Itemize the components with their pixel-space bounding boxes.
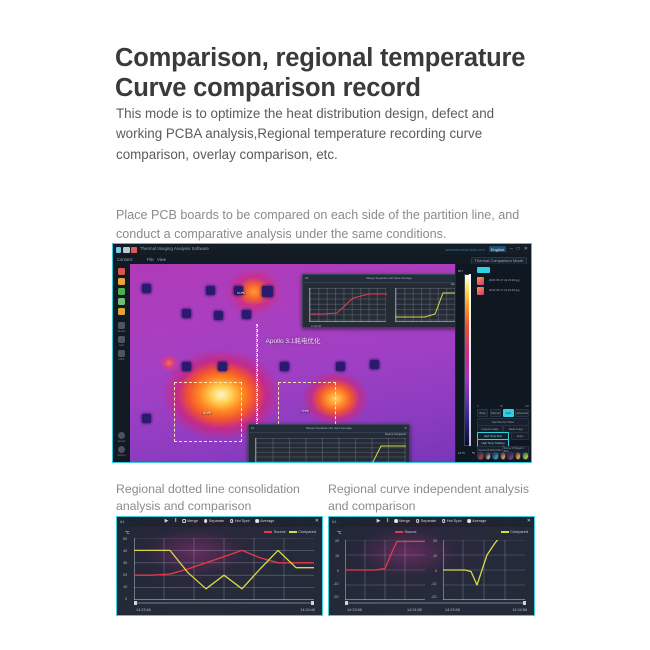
float-window-close-bottom[interactable]: ✕ <box>404 426 407 430</box>
rail-tool-area-icon[interactable] <box>118 288 125 295</box>
app-logo-icon <box>116 247 137 253</box>
scale-max-label: 98.7 <box>458 270 463 273</box>
chart-right-toolbar: #1 ▶ ‖ Merge Separate Hot Spot <box>329 517 534 527</box>
option-hotspot-left-label: Hot Spot <box>235 519 250 523</box>
panel-mode-tabs: Basic Manual Auto Advanced <box>477 409 529 417</box>
rail-setting-label: Setting <box>115 454 128 457</box>
legend-source-right-label: Source <box>405 530 417 534</box>
thermal-board-label: Apollo 3.1耗电优化 <box>266 335 321 345</box>
radio-separate-icon <box>204 519 207 522</box>
vendor-link[interactable]: www.thermal-tool.com <box>446 247 485 252</box>
scale-needle[interactable] <box>469 274 471 446</box>
chart-left-ytick-40: 40 <box>123 549 127 553</box>
option-separate-left[interactable]: Separate <box>204 519 224 523</box>
button-apply[interactable]: Apply <box>511 432 529 440</box>
chart-right-time-end-right: 14:24:58 <box>512 608 527 612</box>
palette-gray-icon[interactable] <box>485 452 492 461</box>
scale-tick-2: 100 <box>525 405 529 408</box>
lead-caption: Place PCB boards to be compared on each … <box>116 206 536 244</box>
legend-compared-right: Compared <box>501 530 528 534</box>
legend-source-left-label: Source <box>274 530 286 534</box>
chart-right-tool-group: ▶ ‖ Merge Separate Hot Spot Average <box>377 519 487 524</box>
scale-min-label: 23.75 <box>458 452 465 455</box>
radio-separate-icon <box>416 519 419 522</box>
option-average-right[interactable]: Average <box>468 519 487 523</box>
option-merge-left[interactable]: Merge <box>183 519 198 523</box>
chart-left-legend: Source Compared <box>264 530 316 534</box>
caption-right: Regional curve independent analysis and … <box>328 481 533 515</box>
chart-right-l-ytick-10: 10 <box>335 554 339 558</box>
chart-left-svg <box>134 538 314 600</box>
chart-right-legend-source: Source <box>395 530 417 534</box>
chart-left-time-start: 14:23:46 <box>136 608 151 612</box>
radio-average-icon <box>256 519 259 522</box>
chart-left-ytick-20: 20 <box>123 573 127 577</box>
float-window-body-top: Source Compared 14:23:46 14:24:46 <box>303 283 456 329</box>
chart-right-svg-source <box>345 540 425 600</box>
palette-green-icon[interactable] <box>522 452 529 461</box>
rail-tool-point-icon[interactable] <box>118 268 125 275</box>
radio-average-icon <box>468 519 471 522</box>
float-chart-window-bottom[interactable]: #1 Merge Separate Hot Spot Average ✕ Sou… <box>248 424 410 462</box>
language-selector[interactable]: English <box>489 246 506 252</box>
app-title-text: Thermal Imaging Analysis Software <box>140 246 209 251</box>
option-average-left-label: Average <box>260 519 274 523</box>
legend-compared-left-label: Compared <box>298 530 316 534</box>
chart-right-time-start-right: 14:23:58 <box>445 608 460 612</box>
chart-left-window-id: #1 <box>120 519 124 524</box>
float-window-id-top: #2 <box>305 276 308 280</box>
option-separate-left-label: Separate <box>209 519 224 523</box>
chart-right-unit: ℃ <box>337 530 341 535</box>
page-subtitle: This mode is to optimize the heat distri… <box>116 104 516 165</box>
option-average-right-label: Average <box>472 519 486 523</box>
temperature-scale[interactable]: 98.7 23.75 ℃ <box>458 268 475 458</box>
tab-manual[interactable]: Manual <box>490 409 501 417</box>
pause-icon[interactable]: ‖ <box>174 519 176 524</box>
float-window-options-top[interactable]: Merge Separate Hot Spot Average <box>366 276 412 280</box>
chart-left-plot-area[interactable] <box>134 538 314 600</box>
legend-source-left: Source <box>264 530 286 534</box>
file-name-2: 2023-05-17 14:24:46.jpg <box>489 288 519 292</box>
chart-right-r-ytick-0: 0 <box>435 569 437 573</box>
tab-advanced[interactable]: Advanced <box>515 409 529 417</box>
tab-auto[interactable]: Auto <box>503 409 514 417</box>
float-window-body-bottom: Source Compared 14:23:46 14:24:46 <box>249 433 409 463</box>
radio-merge-icon <box>395 519 398 522</box>
chart-right-close-icon[interactable]: ✕ <box>527 519 531 524</box>
play-icon[interactable]: ▶ <box>377 519 381 524</box>
chart-left-toolbar: #1 ▶ ‖ Merge Separate Hot Spot <box>117 517 322 527</box>
float-window-id-bottom: #1 <box>251 426 254 430</box>
float-window-options-bottom[interactable]: Merge Separate Hot Spot Average <box>306 426 352 430</box>
chart-left-ytick-50: 50 <box>123 537 127 541</box>
spot-tag-3: 62.8℃ <box>236 292 246 295</box>
tool-rail: Rotate Split Mark Sound Setting <box>113 264 131 462</box>
chart-left-time-end: 14:24:46 <box>300 608 315 612</box>
scale-tick-0: 0 <box>477 405 478 408</box>
palette-rainbow-icon[interactable] <box>500 452 507 461</box>
chart-right-legend-compared: Compared <box>501 530 528 534</box>
option-hotspot-right[interactable]: Hot Spot <box>442 519 461 523</box>
page-title-line2: Curve comparison record <box>115 74 545 104</box>
chart-right-timeline-slider[interactable] <box>345 602 526 604</box>
float-window-titlebar-top: #2 Merge Separate Hot Spot Average ✕ <box>303 275 456 283</box>
file-name-1: 2023-05-17 14:23:46.jpg <box>489 278 519 282</box>
rail-tool-spot-icon[interactable] <box>118 308 125 315</box>
chart-right-l-ytick-20: 20 <box>335 539 339 543</box>
palette-iron-icon[interactable] <box>477 452 484 461</box>
legend-compared-left: Compared <box>289 530 316 534</box>
float-window-legend-bottom: Source Compared <box>385 433 406 436</box>
spot-tag-2: 74.5℃ <box>300 410 310 413</box>
float-chart-window-top[interactable]: #2 Merge Separate Hot Spot Average ✕ Sou… <box>302 274 456 328</box>
legend-source-right: Source <box>395 530 417 534</box>
chart-screenshot-right: #1 ▶ ‖ Merge Separate Hot Spot <box>328 516 535 616</box>
caption-left: Regional dotted line consolidation analy… <box>116 481 321 515</box>
chart-left-ytick-30: 30 <box>123 561 127 565</box>
rail-tool-line-icon[interactable] <box>118 278 125 285</box>
thumbnail-icon <box>477 277 484 285</box>
chart-right-plot-compared[interactable] <box>443 540 525 600</box>
float-chart-line-bottom <box>255 438 406 463</box>
chart-right-l-ytick-0: 0 <box>337 569 339 573</box>
rail-rotate-label: Rotate <box>115 330 128 333</box>
legend-compared-right-label: Compared <box>510 530 528 534</box>
chart-right-time-start-left: 14:23:58 <box>347 608 362 612</box>
page-root: Comparison, regional temperature Curve c… <box>0 0 650 650</box>
float-time-start-top: 14:23:46 <box>311 325 321 328</box>
page-title: Comparison, regional temperature Curve c… <box>115 44 545 104</box>
titlebar-right-group: www.thermal-tool.com English – □ ✕ <box>446 246 528 252</box>
rail-split-label: Split <box>115 344 128 347</box>
option-hotspot-left[interactable]: Hot Spot <box>230 519 249 523</box>
chart-left-tool-group: ▶ ‖ Merge Separate Hot Spot Average <box>165 519 275 524</box>
rail-tool-rect-icon[interactable] <box>118 298 125 305</box>
rail-split-icon[interactable] <box>118 336 125 343</box>
chart-right-r-ytick-10: 10 <box>433 554 437 558</box>
chart-right-r-ytick-m10: -10 <box>431 582 437 586</box>
float-chart-line-top-left <box>309 288 387 321</box>
rail-setting-icon[interactable] <box>118 446 125 453</box>
chart-left-close-icon[interactable]: ✕ <box>315 519 319 524</box>
chart-left-timeline-slider[interactable] <box>134 602 314 604</box>
panel-active-chip[interactable] <box>477 267 490 273</box>
thermal-canvas[interactable]: Apollo 3.1耗电优化 86.2℃ 74.5℃ 62.8℃ #2 Merg… <box>130 264 456 462</box>
rail-sound-icon[interactable] <box>118 432 125 439</box>
spot-tag-1: 86.2℃ <box>202 412 212 415</box>
rail-mark-label: Mark <box>115 358 128 361</box>
file-list-item-2[interactable]: 2023-05-17 14:24:46.jpg <box>477 286 529 295</box>
file-list-item-1[interactable]: 2023-05-17 14:23:46.jpg <box>477 276 529 285</box>
option-merge-left-label: Merge <box>187 519 198 523</box>
float-chart-line-top-right <box>395 288 456 321</box>
radio-hotspot-icon <box>442 519 445 522</box>
option-merge-right[interactable]: Merge <box>395 519 410 523</box>
minimize-icon[interactable]: – <box>510 246 513 252</box>
chart-right-l-ytick-m20: -20 <box>333 595 339 599</box>
play-icon[interactable]: ▶ <box>165 519 169 524</box>
palette-cool-icon[interactable] <box>492 452 499 461</box>
chart-right-r-ytick-m20: -20 <box>431 595 437 599</box>
scale-tick-1: 50 <box>500 405 503 408</box>
rail-mark-icon[interactable] <box>118 350 125 357</box>
option-merge-right-label: Merge <box>399 519 410 523</box>
option-separate-right-label: Separate <box>421 519 436 523</box>
close-icon[interactable]: ✕ <box>524 246 528 252</box>
option-separate-right[interactable]: Separate <box>416 519 436 523</box>
float-window-titlebar-bottom: #1 Merge Separate Hot Spot Average ✕ <box>249 425 409 433</box>
chart-left-ytick-0: 0 <box>125 597 127 601</box>
thumbnail-icon <box>477 287 484 295</box>
chart-right-l-ytick-m10: -10 <box>333 582 339 586</box>
chart-right-time-end-left: 14:24:58 <box>407 608 422 612</box>
main-thermal-screenshot: Thermal Imaging Analysis Software www.th… <box>112 243 532 463</box>
menu-item-view[interactable]: View <box>157 257 166 262</box>
chart-right-svg-compared <box>443 540 525 600</box>
chart-left-ytick-10: 10 <box>123 585 127 589</box>
pause-icon[interactable]: ‖ <box>386 519 388 524</box>
palette-lava-icon[interactable] <box>515 452 522 461</box>
page-title-line1: Comparison, regional temperature <box>115 44 545 74</box>
tab-basic[interactable]: Basic <box>477 409 488 417</box>
menu-item-file[interactable]: File <box>147 257 154 262</box>
palette-medical-icon[interactable] <box>507 452 514 461</box>
menu-item-connect[interactable]: Connect <box>117 257 133 262</box>
scale-unit-label: ℃ <box>472 451 475 455</box>
radio-merge-icon <box>183 519 186 522</box>
option-average-left[interactable]: Average <box>256 519 275 523</box>
right-control-panel: 98.7 23.75 ℃ 2023-05-17 14:23:46.jpg 202… <box>455 264 531 462</box>
chart-left-unit: ℃ <box>125 530 129 535</box>
chart-right-r-ytick-20: 20 <box>433 539 437 543</box>
chart-right-plot-source[interactable] <box>345 540 425 600</box>
rail-sound-label: Sound <box>115 440 128 443</box>
chart-screenshot-left: #1 ▶ ‖ Merge Separate Hot Spot <box>116 516 323 616</box>
scale-tick-row: 0 50 100 <box>477 405 529 408</box>
option-hotspot-right-label: Hot Spot <box>447 519 462 523</box>
radio-hotspot-icon <box>230 519 233 522</box>
maximize-icon[interactable]: □ <box>517 246 520 252</box>
chart-right-window-id: #1 <box>332 519 336 524</box>
right-panel-header <box>477 267 529 274</box>
rail-rotate-icon[interactable] <box>118 322 125 329</box>
palette-selector <box>477 452 529 461</box>
